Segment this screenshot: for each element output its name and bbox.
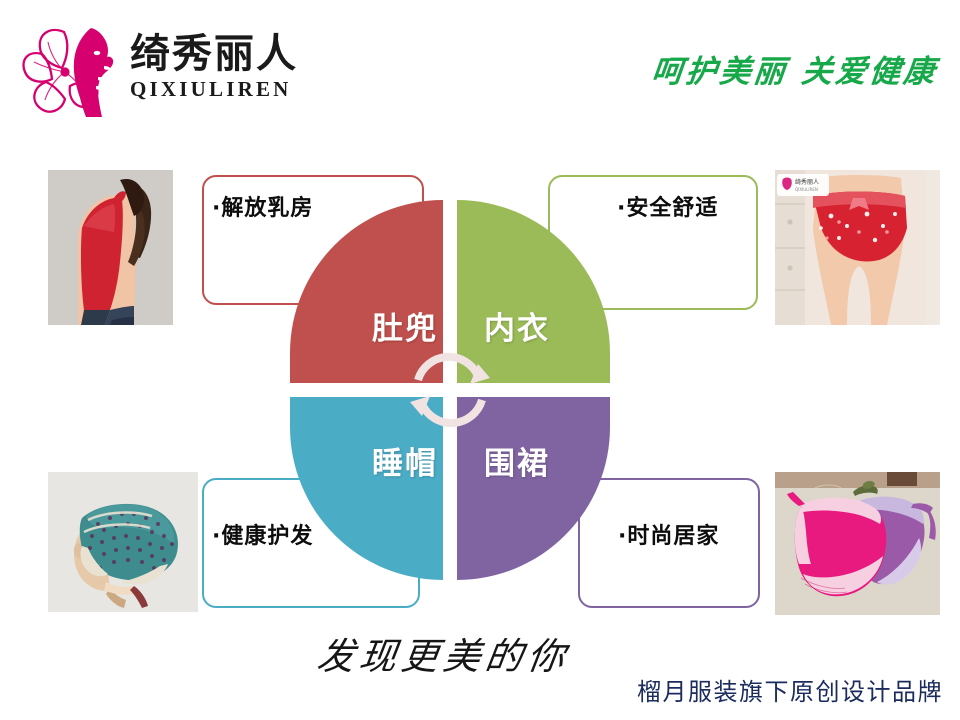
wheel-quadrant-dudou[interactable]	[290, 200, 443, 383]
svg-text:绮秀丽人: 绮秀丽人	[795, 178, 819, 186]
wheel-label-dudou: 肚兜	[372, 303, 438, 348]
product-photo-dudou	[48, 170, 173, 325]
callout-text-neiyi: ·安全舒适	[617, 190, 718, 222]
callout-text-shuimao: ·健康护发	[212, 518, 313, 550]
slide-canvas: 绮秀丽人 QIXIULIREN 呵护美丽 关爱健康 肚兜 内衣 睡帽 围裙	[0, 0, 960, 720]
brand-name-cn: 绮秀丽人	[130, 34, 320, 74]
wheel-label-shuimao: 睡帽	[372, 438, 438, 483]
footer-subline: 榴月服装旗下原创设计品牌	[637, 672, 943, 707]
callout-text-weiqun: ·时尚居家	[618, 518, 719, 550]
brand-logo: 绮秀丽人 QIXIULIREN	[18, 20, 318, 125]
brand-name-en: QIXIULIREN	[130, 77, 320, 102]
product-photo-neiyi: 绮秀丽人 QIXIULIREN	[775, 170, 940, 325]
product-photo-shuimao	[48, 472, 198, 612]
wheel-quadrant-shuimao[interactable]	[290, 397, 443, 580]
wheel-quadrant-weiqun[interactable]	[457, 397, 610, 580]
butterfly-woman-face-logo-icon	[18, 20, 126, 120]
header-tagline: 呵护美丽 关爱健康	[650, 46, 941, 91]
wheel-label-neiyi: 内衣	[484, 303, 550, 348]
footer-slogan: 发现更美的你	[314, 626, 574, 680]
four-quadrant-wheel: 肚兜 内衣 睡帽 围裙	[290, 200, 610, 580]
product-photo-weiqun	[775, 472, 940, 615]
wheel-quadrant-neiyi[interactable]	[457, 200, 610, 383]
brand-wordmark: 绮秀丽人 QIXIULIREN	[130, 34, 320, 102]
callout-text-dudou: ·解放乳房	[212, 190, 313, 222]
svg-text:QIXIULIREN: QIXIULIREN	[795, 187, 818, 192]
wheel-label-weiqun: 围裙	[484, 438, 550, 483]
